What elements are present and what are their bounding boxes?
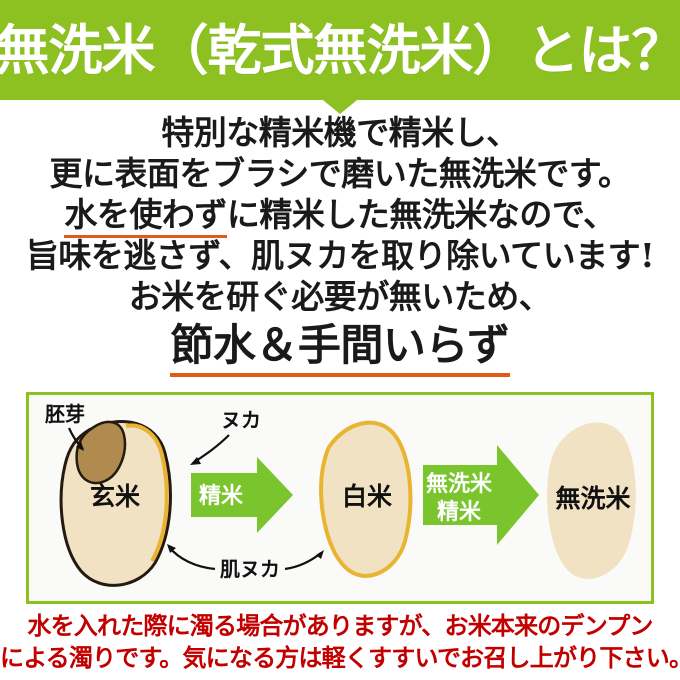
copy-line-3-suffix: に精米した無洗米なので、 [227, 195, 616, 234]
header-banner: 無洗米（乾式無洗米）とは？ [0, 0, 680, 100]
infographic-page: 無洗米（乾式無洗米）とは？ 特別な精米機で精米し、 更に表面をブラシで磨いた無洗… [0, 0, 680, 680]
musenmai-label: 無洗米 [555, 484, 631, 513]
stage-musenmai: 無洗米 [547, 423, 636, 579]
copy-line-5: お米を研ぐ必要が無いため、 [0, 276, 680, 317]
body-copy: 特別な精米機で精米し、 更に表面をブラシで磨いた無洗米です。 水を使わずに精米し… [0, 112, 680, 377]
copy-emphasis: 節水＆手間いらず [170, 319, 509, 377]
nuka-callout: ヌカ [190, 408, 261, 465]
musenmai-seimai-arrow-line1: 無洗米 [426, 471, 493, 497]
nuka-callout-arrow [193, 435, 229, 463]
stage-hakumai: 白米 [321, 423, 410, 576]
hakumai-label: 白米 [342, 482, 393, 511]
copy-line-2: 更に表面をブラシで磨いた無洗米です。 [0, 153, 680, 194]
hada-nuka-arrowhead-right [316, 550, 324, 559]
musenmai-seimai-arrow: 無洗米 精米 [423, 445, 539, 545]
page-title: 無洗米（乾式無洗米）とは？ [0, 0, 680, 100]
germ-callout: 胚芽 [45, 402, 85, 451]
copy-line-4: 旨味を逃さず、肌ヌカを取り除いています! [0, 235, 680, 276]
seimai-arrow-text: 精米 [199, 483, 244, 509]
rice-milling-diagram: 玄米 胚芽 ヌカ 肌ヌカ [26, 392, 654, 604]
genmai-label: 玄米 [90, 482, 141, 511]
hada-nuka-arrow-right [285, 553, 321, 569]
nuka-label: ヌカ [221, 408, 261, 432]
seimai-arrow: 精米 [191, 457, 293, 533]
copy-underlined-phrase: 水を使わず [64, 195, 227, 238]
footer-line-1: 水を入れた際に濁る場合がありますが、お米本来のデンプン [0, 610, 680, 642]
germ-label: 胚芽 [45, 402, 85, 426]
hada-nuka-arrow-left [169, 547, 215, 569]
copy-line-1: 特別な精米機で精米し、 [0, 112, 680, 153]
footer-line-2: による濁りです。気になる方は軽くすすいでお召し上がり下さい。 [0, 642, 680, 674]
musenmai-seimai-arrow-line2: 精米 [437, 499, 482, 525]
hada-nuka-callout: 肌ヌカ [167, 544, 324, 581]
hada-nuka-label: 肌ヌカ [220, 557, 280, 581]
copy-line-3: 水を使わずに精米した無洗米なので、 [0, 194, 680, 235]
footer-note: 水を入れた際に濁る場合がありますが、お米本来のデンプン による濁りです。気になる… [0, 610, 680, 674]
